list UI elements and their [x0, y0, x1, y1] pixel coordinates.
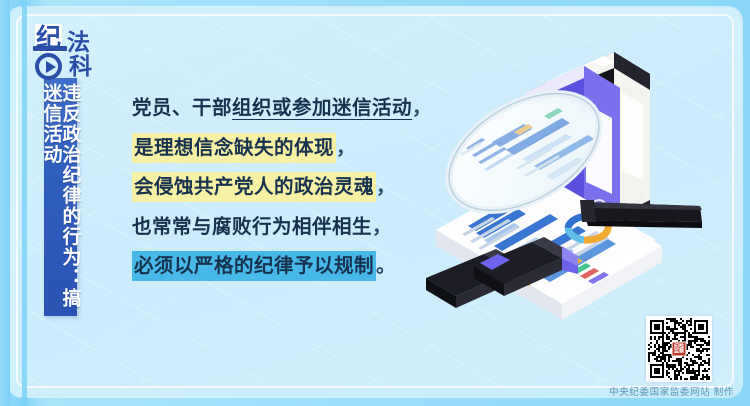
- body-line-4-segment-2: ，: [372, 215, 392, 238]
- credit-line: 中央纪委国家监委网站 制作: [609, 384, 734, 398]
- qr-center-seal: 纪检监察: [672, 342, 687, 357]
- body-line-4: 也常常与腐败行为相伴相生，: [132, 217, 462, 237]
- body-copy: 党员、干部组织或参加迷信活动，是理想信念缺失的体现，会侵蚀共产党人的政治灵魂，也…: [132, 98, 462, 296]
- vertical-title-text: 违反政治纪律的行为：搞迷信活动: [42, 83, 80, 316]
- body-line-2: 是理想信念缺失的体现，: [132, 138, 462, 158]
- qr-code[interactable]: 纪检监察: [646, 316, 712, 382]
- body-line-3: 会侵蚀共产党人的政治灵魂，: [132, 177, 462, 197]
- brand-logo: 纪 法 科: [33, 22, 115, 84]
- magnifier-handle: [580, 200, 702, 228]
- body-line-4-segment-1: 也常常与腐败行为相伴相生: [132, 215, 372, 238]
- body-line-5-segment-1: 必须以严格的纪律予以规制: [132, 251, 376, 281]
- illustration-isometric-documents: [418, 30, 718, 345]
- body-line-5: 必须以严格的纪律予以规制。: [132, 256, 462, 276]
- poster-root: 纪 法 科 违反政治纪律的行为：搞迷信活动 党员、干部组织或参加迷信活动，是理想…: [0, 0, 750, 406]
- body-line-5-segment-2: 。: [376, 254, 396, 277]
- body-line-1-segment-1: 党员、干部: [132, 96, 232, 119]
- left-accent-stripe: [22, 0, 27, 406]
- logo-char-ke: 科: [69, 47, 92, 81]
- left-edge-stripe: [0, 0, 10, 406]
- body-line-1-segment-3: ，: [412, 96, 432, 119]
- body-line-3-segment-2: ，: [376, 175, 396, 198]
- body-line-2-segment-2: ，: [336, 136, 356, 159]
- body-line-3-segment-1: 会侵蚀共产党人的政治灵魂: [132, 172, 376, 202]
- vertical-title-banner: 违反政治纪律的行为：搞迷信活动: [44, 78, 77, 316]
- body-line-2-segment-1: 是理想信念缺失的体现: [132, 133, 336, 163]
- body-line-1-segment-2: 组织或参加迷信活动: [232, 96, 412, 119]
- body-line-1: 党员、干部组织或参加迷信活动，: [132, 98, 462, 118]
- logo-play-circle-icon: [33, 46, 67, 80]
